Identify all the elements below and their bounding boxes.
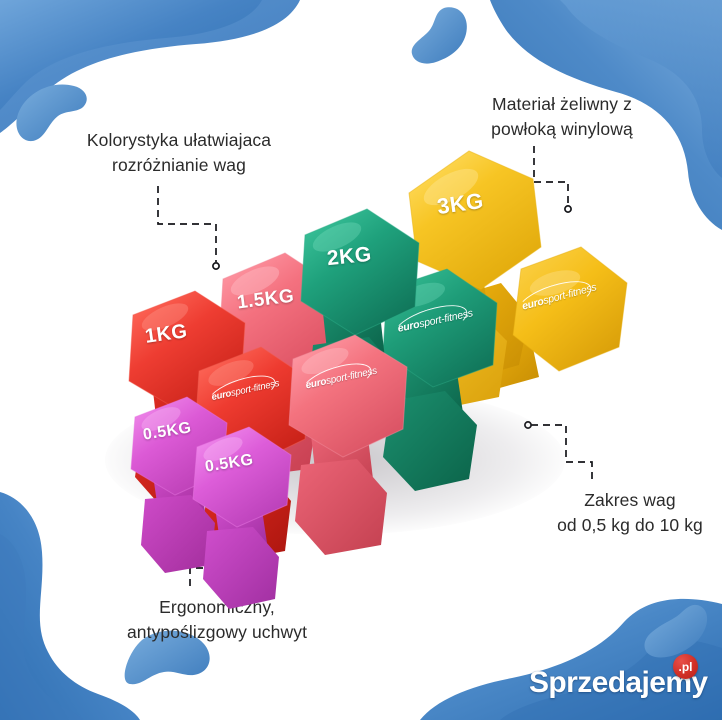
wave-top-left-front <box>0 0 262 110</box>
callout-weight-range: Zakres wag od 0,5 kg do 10 kg <box>540 488 720 538</box>
sprzedajemy-watermark: Sprzedajemy .pl <box>529 666 707 706</box>
callout-colour-coding: Kolorystyka ułatwiajaca rozróżnianie wag <box>54 128 304 178</box>
watermark-tld-badge: .pl <box>673 654 698 679</box>
wave-top-left-back <box>0 0 300 133</box>
infographic-canvas: eurosport-fitness <box>0 0 722 720</box>
dumbbell-05kg-b: 0.5KG <box>173 413 328 618</box>
wave-bottom-left-inner <box>0 534 84 720</box>
wave-comma-top-right <box>412 7 467 63</box>
wave-comma-bottom-right <box>645 605 708 658</box>
